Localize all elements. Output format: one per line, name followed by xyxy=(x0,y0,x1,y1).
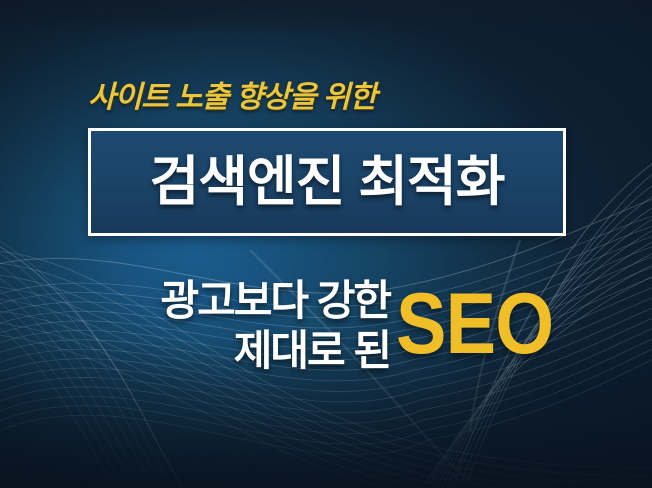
seo-promo-banner: 사이트 노출 향상을 위한 검색엔진 최적화 광고보다 강한 제대로 된 SEO xyxy=(0,0,652,488)
tagline-line-2: 제대로 된 xyxy=(60,326,390,376)
tagline-line-1: 광고보다 강한 xyxy=(60,276,390,326)
banner-title: 검색엔진 최적화 xyxy=(150,155,505,209)
seo-highlight-text: SEO xyxy=(396,281,553,367)
tagline-block: 광고보다 강한 제대로 된 xyxy=(60,276,390,376)
banner-subtitle: 사이트 노출 향상을 위한 xyxy=(88,72,376,116)
banner-content: 사이트 노출 향상을 위한 검색엔진 최적화 광고보다 강한 제대로 된 SEO xyxy=(0,0,652,488)
title-frame: 검색엔진 최적화 xyxy=(88,128,566,236)
